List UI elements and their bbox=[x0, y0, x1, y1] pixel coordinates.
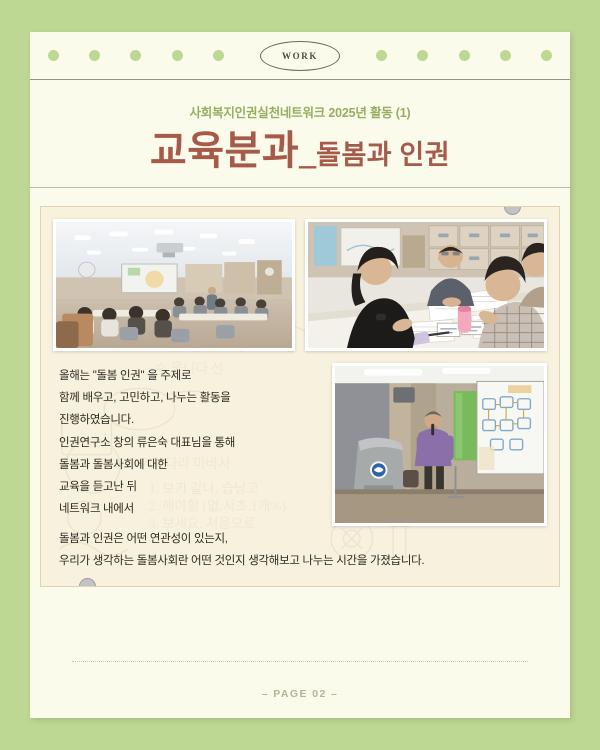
body-line: 돌봄과 인권은 어떤 연관성이 있는지, bbox=[59, 528, 547, 550]
content-wrap: 가나다라 마바사 수 울니다 선 1. 보기 같나, 습낭고 2. 해야할 (없… bbox=[40, 206, 560, 587]
body-text-wide: 돌봄과 인권은 어떤 연관성이 있는지, 우리가 생각하는 돌봄사회란 어떤 것… bbox=[53, 528, 547, 572]
header-dot bbox=[541, 50, 552, 61]
body-line: 올해는 "돌봄 인권" 을 주제로 bbox=[59, 365, 322, 387]
photo-row-top bbox=[53, 219, 547, 351]
decorative-circle-bottom-left bbox=[79, 578, 96, 587]
header-dot bbox=[213, 50, 224, 61]
header-dot bbox=[89, 50, 100, 61]
body-line: 네트워크 내에서 bbox=[59, 498, 322, 520]
work-badge: WORK bbox=[260, 41, 340, 71]
header-dot bbox=[376, 50, 387, 61]
photo-small-group-discussion bbox=[305, 219, 547, 351]
photo-lecture-hall-audience bbox=[53, 219, 295, 351]
decorative-circle-top-right bbox=[504, 206, 521, 215]
body-line: 진행하였습니다. bbox=[59, 409, 322, 431]
header-dot bbox=[459, 50, 470, 61]
page-card: WORK 사회복지인권실천네트워크 2025년 활동 (1) 교육분과_돌봄과 … bbox=[30, 32, 570, 718]
page-title-main: 교육분과 bbox=[150, 128, 299, 173]
header-dot bbox=[500, 50, 511, 61]
body-line: 인권연구소 창의 류은숙 대표님을 통해 bbox=[59, 432, 322, 454]
title-block: 사회복지인권실천네트워크 2025년 활동 (1) 교육분과_돌봄과 인권 bbox=[30, 80, 570, 188]
header-dot bbox=[130, 50, 141, 61]
body-line: 교육을 듣고난 뒤 bbox=[59, 476, 322, 498]
header-dot bbox=[417, 50, 428, 61]
eyebrow-text: 사회복지인권실천네트워크 2025년 활동 (1) bbox=[30, 102, 570, 121]
header-dots-row: WORK bbox=[30, 41, 570, 71]
body-line: 돌봄과 돌봄사회에 대한 bbox=[59, 454, 322, 476]
footer-divider bbox=[72, 661, 528, 662]
page-title-sub: 돌봄과 인권 bbox=[316, 140, 450, 170]
body-line: 함께 배우고, 고민하고, 나누는 활동을 bbox=[59, 387, 322, 409]
header-dot bbox=[48, 50, 59, 61]
page-number: – PAGE 02 – bbox=[30, 688, 570, 700]
header-dot bbox=[172, 50, 183, 61]
page-title: 교육분과_돌봄과 인권 bbox=[30, 131, 570, 171]
page-title-separator: _ bbox=[299, 135, 316, 172]
header-strip: WORK bbox=[30, 32, 570, 80]
body-line: 우리가 생각하는 돌봄사회란 어떤 것인지 생각해보고 나누는 시간을 가졌습니… bbox=[59, 550, 547, 572]
footer: – PAGE 02 – bbox=[30, 661, 570, 700]
lower-row: 올해는 "돌봄 인권" 을 주제로 함께 배우고, 고민하고, 나누는 활동을 … bbox=[53, 363, 547, 526]
content-box: 가나다라 마바사 수 울니다 선 1. 보기 같나, 습낭고 2. 해야할 (없… bbox=[40, 206, 560, 587]
work-badge-label: WORK bbox=[282, 51, 318, 61]
body-text-block: 올해는 "돌봄 인권" 을 주제로 함께 배우고, 고민하고, 나누는 활동을 … bbox=[53, 363, 322, 526]
photo-speaker-at-podium bbox=[332, 363, 547, 526]
